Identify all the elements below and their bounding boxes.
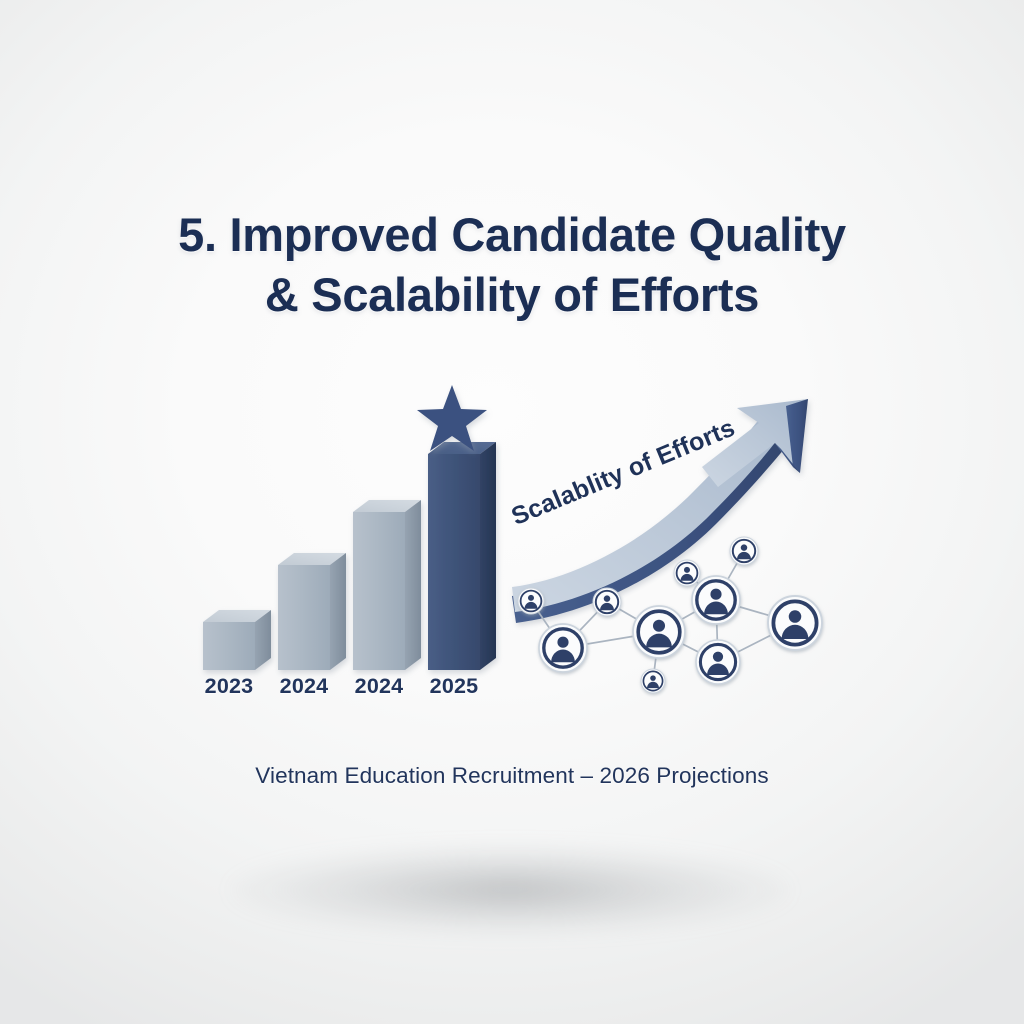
bar-2024-b [353, 500, 421, 670]
network-link [716, 600, 718, 662]
person-icon-body [782, 625, 809, 639]
person-icon-body [646, 634, 672, 648]
bar-label-0: 2023 [191, 674, 267, 699]
person-node-small-top-left [593, 588, 621, 616]
person-icon-body [600, 603, 614, 610]
network-link [653, 632, 659, 681]
person-icon-head [557, 637, 568, 648]
network-link [563, 632, 659, 648]
bar-chart-bars [203, 442, 496, 670]
person-icon-head [604, 595, 610, 601]
arrow-label: Scalablity of Efforts [507, 414, 739, 532]
chart-caption: Vietnam Education Recruitment – 2026 Pro… [0, 763, 1024, 789]
bar-2023 [203, 610, 271, 670]
network-link [563, 602, 607, 648]
network-link [659, 600, 716, 632]
page-title-line-1: 5. Improved Candidate Quality [0, 205, 1024, 265]
bar-category-labels: 2023202420242025 [185, 674, 505, 706]
network-link [607, 602, 659, 632]
ground-shadow [230, 845, 790, 935]
network-link [687, 573, 716, 600]
person-icon-head [653, 620, 665, 632]
person-node-large-left [539, 624, 587, 672]
person-node-small-top-right [730, 537, 758, 565]
person-node-small-upper-left [518, 588, 544, 614]
bar-label-2: 2024 [341, 674, 417, 699]
person-icon-body [707, 663, 729, 675]
person-icon-body [737, 552, 751, 559]
person-node-large-right [768, 596, 822, 650]
network-link [716, 551, 744, 600]
network-links [531, 551, 795, 681]
person-icon-head [528, 595, 534, 601]
person-node-upper-center [692, 576, 740, 624]
person-node-lower-right [696, 640, 740, 684]
person-icon-body [704, 602, 728, 615]
bar-2025 [428, 442, 496, 670]
person-icon-body [525, 602, 538, 609]
network-link [718, 623, 795, 662]
people-network-diagram [518, 537, 822, 693]
network-nodes [518, 537, 822, 693]
network-link [659, 632, 718, 662]
person-icon-head [650, 675, 656, 681]
network-link [531, 601, 563, 648]
person-icon-head [710, 589, 721, 600]
person-icon-body [681, 574, 694, 581]
person-node-small-below-hub [641, 669, 665, 693]
person-icon-head [789, 610, 802, 623]
infographic-canvas: 5. Improved Candidate Quality & Scalabil… [0, 0, 1024, 1024]
person-icon-body [551, 650, 575, 663]
person-icon-body [647, 682, 659, 688]
bar-label-3: 2025 [416, 674, 492, 699]
bar-2024-a [278, 553, 346, 670]
page-title: 5. Improved Candidate Quality & Scalabil… [0, 205, 1024, 324]
person-icon-head [684, 567, 690, 573]
bar-label-1: 2024 [266, 674, 342, 699]
person-node-small-mid-top [674, 560, 700, 586]
star-icon [417, 385, 487, 451]
person-icon-head [741, 544, 747, 550]
network-link [716, 600, 795, 623]
page-title-line-2: & Scalability of Efforts [0, 265, 1024, 325]
person-node-hub-center [633, 606, 685, 658]
person-icon-head [713, 652, 723, 662]
